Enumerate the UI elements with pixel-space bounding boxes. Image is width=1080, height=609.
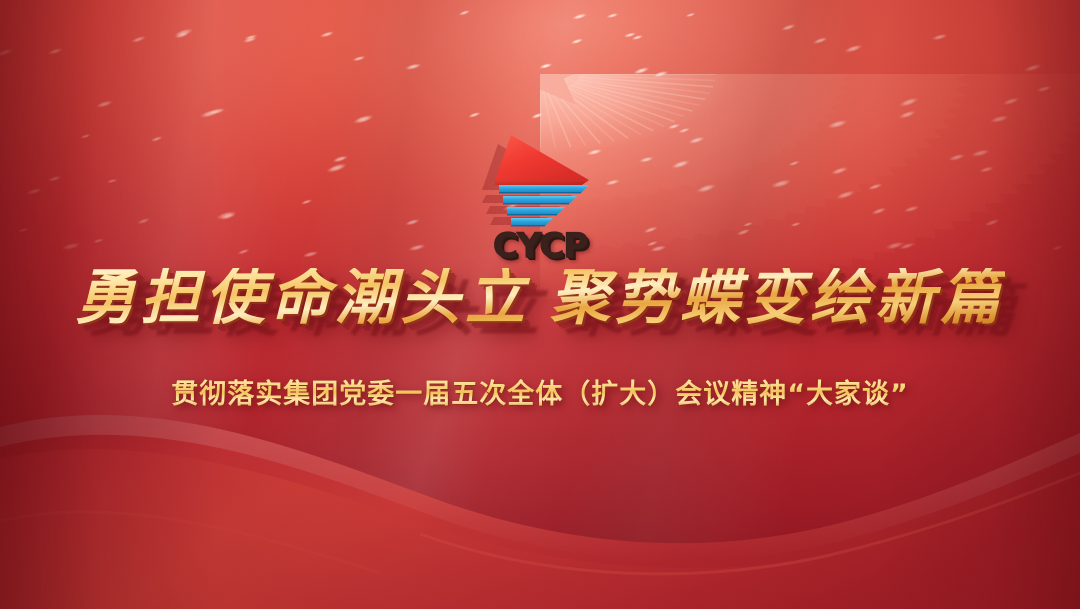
page-title: 勇担使命潮头立 聚势蝶变绘新篇 勇担使命潮头立 聚势蝶变绘新篇: [0, 268, 1080, 328]
banner-poster: CYCP 勇担使命潮头立 聚势蝶变绘新篇 勇担使命潮头立 聚势蝶变绘新篇 贯彻落…: [0, 0, 1080, 609]
page-title-text: 勇担使命潮头立 聚势蝶变绘新篇: [75, 268, 1005, 328]
page-subtitle-text: 贯彻落实集团党委一届五次全体（扩大）会议精神“大家谈”: [171, 372, 909, 411]
page-subtitle: 贯彻落实集团党委一届五次全体（扩大）会议精神“大家谈”: [0, 372, 1080, 411]
